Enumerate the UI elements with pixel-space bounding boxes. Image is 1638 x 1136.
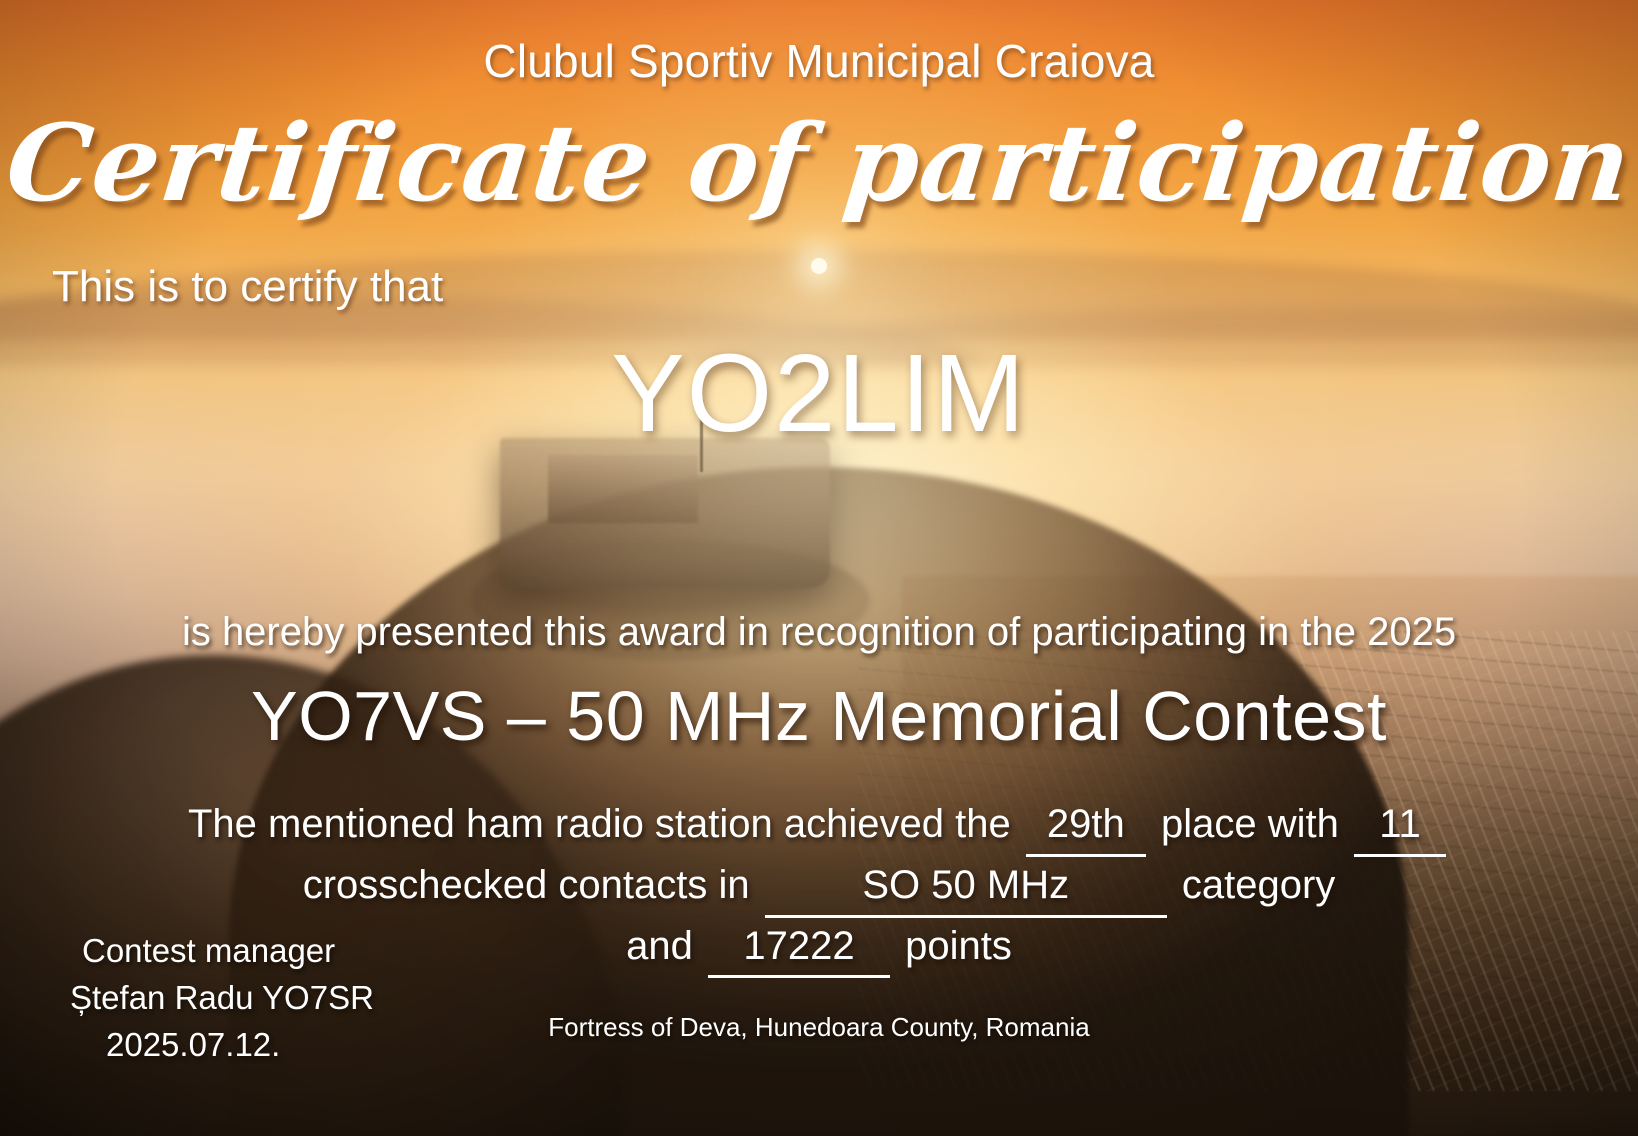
category-prefix-label: crosschecked contacts in	[303, 863, 750, 907]
certify-statement: This is to certify that	[52, 262, 443, 312]
points-value: 17222	[708, 918, 890, 979]
certificate-content: Clubul Sportiv Municipal Craiova Certifi…	[0, 0, 1638, 1136]
points-prefix-label: and	[626, 924, 693, 968]
place-value: 29th	[1026, 796, 1146, 857]
photo-caption: Fortress of Deva, Hunedoara County, Roma…	[0, 1012, 1638, 1043]
category-value: SO 50 MHz	[765, 857, 1167, 918]
result-row-place: The mentioned ham radio station achieved…	[0, 796, 1638, 857]
certificate-title: Certificate of participation	[0, 110, 1638, 216]
category-suffix-label: category	[1182, 863, 1335, 907]
contest-manager-block: Contest manager Ștefan Radu YO7SR 2025.0…	[70, 928, 374, 1069]
contest-name: YO7VS – 50 MHz Memorial Contest	[0, 676, 1638, 756]
certificate-canvas: Clubul Sportiv Municipal Craiova Certifi…	[0, 0, 1638, 1136]
contest-manager-role: Contest manager	[70, 928, 374, 975]
result-row-category: crosschecked contacts in SO 50 MHz categ…	[0, 857, 1638, 918]
points-suffix-label: points	[905, 924, 1012, 968]
award-statement: is hereby presented this award in recogn…	[0, 610, 1638, 655]
contacts-value: 11	[1354, 796, 1446, 857]
place-prefix-label: The mentioned ham radio station achieved…	[188, 802, 1011, 846]
place-middle-label: place with	[1161, 802, 1339, 846]
recipient-callsign: YO2LIM	[0, 330, 1638, 457]
club-name: Clubul Sportiv Municipal Craiova	[0, 34, 1638, 88]
